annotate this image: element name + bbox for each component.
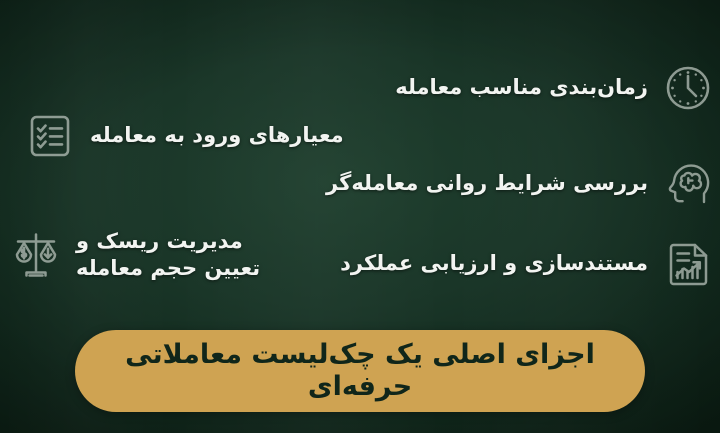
head-brain-icon: [662, 158, 714, 210]
balance-scale-icon: [10, 229, 62, 281]
feature-risk-management: مدیریت ریسک و تعیین حجم معامله: [10, 228, 260, 283]
feature-entry-criteria: معیارهای ورود به معامله: [24, 110, 344, 162]
feature-timing-label: زمان‌بندی مناسب معامله: [395, 74, 648, 102]
document-chart-icon: [662, 238, 714, 290]
feature-risk-management-label: مدیریت ریسک و تعیین حجم معامله: [76, 228, 260, 283]
headline-banner-text: اجزای اصلی یک چک‌لیست معاملاتی حرفه‌ای: [75, 339, 645, 404]
feature-entry-criteria-label: معیارهای ورود به معامله: [90, 122, 344, 150]
feature-psychology: بررسی شرایط روانی معامله‌گر: [326, 158, 714, 210]
feature-documentation: مستندسازی و ارزیابی عملکرد: [340, 238, 714, 290]
poster-canvas: زمان‌بندی مناسب معامله معیارهای ورود به …: [0, 0, 720, 433]
feature-timing: زمان‌بندی مناسب معامله: [395, 62, 714, 114]
feature-documentation-label: مستندسازی و ارزیابی عملکرد: [340, 250, 648, 278]
headline-banner: اجزای اصلی یک چک‌لیست معاملاتی حرفه‌ای: [75, 330, 645, 412]
clock-icon: [662, 62, 714, 114]
checklist-icon: [24, 110, 76, 162]
feature-psychology-label: بررسی شرایط روانی معامله‌گر: [326, 170, 648, 198]
